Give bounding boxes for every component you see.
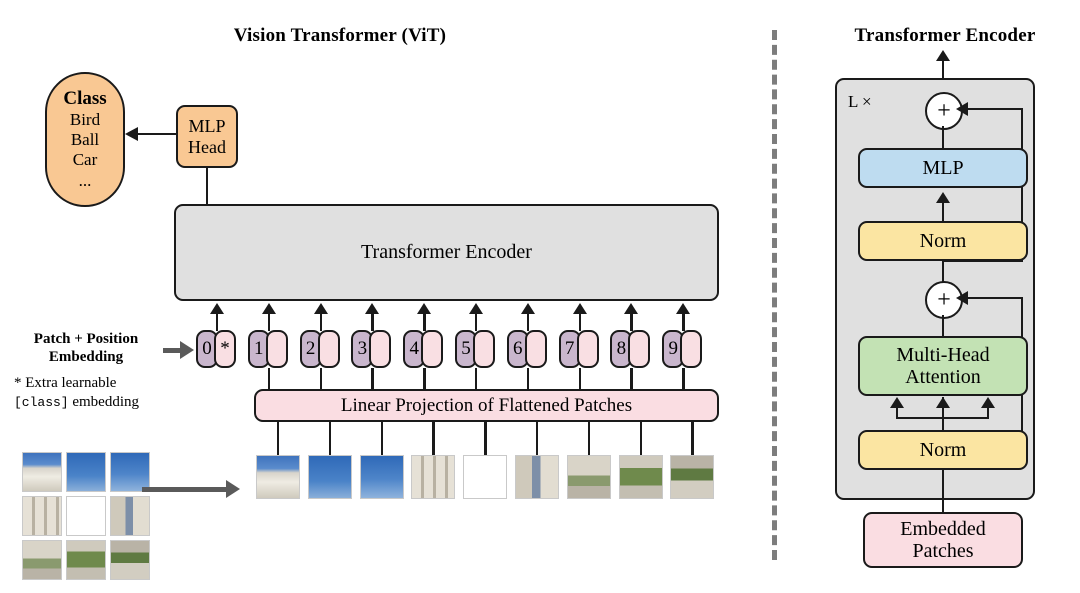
token-patch-half [525, 330, 547, 368]
token-to-encoder-wire [527, 314, 529, 331]
residual-add-top-symbol: + [937, 99, 951, 123]
projection-to-token-wire [682, 368, 684, 390]
source-patch [110, 540, 150, 580]
embedding-label-line2: Embedding [8, 349, 164, 367]
mlp-to-class-arrow-line [137, 133, 176, 135]
token-to-encoder-wire [371, 314, 373, 331]
token-to-encoder-arrow-head [417, 303, 431, 314]
token-patch-half [473, 330, 495, 368]
class-pill: Class Bird Ball Car ... [45, 72, 125, 207]
token-to-encoder-wire [682, 314, 684, 331]
embedded-patches-line1: Embedded [900, 518, 986, 540]
projection-to-token-wire [423, 368, 425, 390]
left-panel-title: Vision Transformer (ViT) [180, 25, 500, 47]
linear-projection-box: Linear Projection of Flattened Patches [254, 389, 719, 422]
class-pill-item: ... [47, 170, 123, 192]
mlp-block: MLP [858, 148, 1028, 188]
extra-learnable-footnote: * Extra learnable [class] embedding [14, 374, 194, 412]
residual-add-top-arrow-head [956, 102, 968, 116]
source-patch [22, 540, 62, 580]
patch-to-projection-wire [277, 422, 279, 455]
flattened-patch [619, 455, 663, 499]
patch-to-projection-wire [381, 422, 383, 455]
patch-position-token[interactable]: 0* [196, 330, 236, 368]
embedding-label-line1: Patch + Position [8, 331, 164, 349]
qkv-arrow-k [936, 397, 950, 408]
source-patch [22, 452, 62, 492]
projection-to-token-wire [579, 368, 581, 390]
token-patch-half [421, 330, 443, 368]
class-pill-item: Ball [47, 130, 123, 150]
residual-add-bottom-arrow-head [956, 291, 968, 305]
linear-projection-label: Linear Projection of Flattened Patches [341, 395, 632, 416]
repeat-count-label: L × [848, 92, 872, 112]
flattened-patch [360, 455, 404, 499]
token-to-encoder-wire [475, 314, 477, 331]
patch-to-projection-wire [432, 422, 434, 455]
norm-top-block: Norm [858, 221, 1028, 261]
token-to-encoder-arrow-head [624, 303, 638, 314]
class-pill-item: Bird [47, 110, 123, 130]
footnote-line2-tail: embedding [69, 394, 139, 410]
footnote-line2: [class] embedding [14, 393, 194, 412]
token-patch-half [369, 330, 391, 368]
source-patch [110, 452, 150, 492]
flattened-patch [463, 455, 507, 499]
flattened-patch [515, 455, 559, 499]
token-patch-half: * [214, 330, 236, 368]
embedded-patches-line2: Patches [900, 540, 986, 562]
mlp-head-line2: Head [188, 137, 226, 157]
attention-to-add-wire [942, 315, 944, 336]
projection-to-token-wire [268, 368, 270, 390]
qkv-arrow-v [981, 397, 995, 408]
token-to-encoder-wire [630, 314, 632, 331]
source-patch [22, 496, 62, 536]
patch-position-token[interactable]: 5 [455, 330, 495, 368]
patch-position-token[interactable]: 8 [610, 330, 650, 368]
patch-position-token[interactable]: 7 [559, 330, 599, 368]
projection-to-token-wire [630, 368, 632, 390]
patch-to-projection-wire [536, 422, 538, 455]
token-to-encoder-wire [423, 314, 425, 331]
flattened-patch [567, 455, 611, 499]
source-patch [66, 452, 106, 492]
attention-label-line2: Attention [896, 366, 989, 388]
patch-position-token[interactable]: 3 [351, 330, 391, 368]
patch-to-projection-wire [640, 422, 642, 455]
mlp-head-line1: MLP [188, 116, 226, 136]
residual-wire-top-horizontal-in [968, 108, 1023, 110]
embedded-patches-block: Embedded Patches [863, 512, 1023, 568]
projection-to-token-wire [371, 368, 373, 390]
mlp-block-label: MLP [922, 157, 963, 179]
class-pill-item: Car [47, 150, 123, 170]
token-to-encoder-arrow-head [210, 303, 224, 314]
token-to-encoder-arrow-head [469, 303, 483, 314]
patch-position-token[interactable]: 1 [248, 330, 288, 368]
patch-position-token[interactable]: 4 [403, 330, 443, 368]
token-to-encoder-arrow-head [676, 303, 690, 314]
projection-to-token-wire [527, 368, 529, 390]
flattened-patch [670, 455, 714, 499]
norm-top-to-mlp-arrow-head [936, 192, 950, 203]
token-patch-half [680, 330, 702, 368]
flattened-patch [308, 455, 352, 499]
footnote-line1: * Extra learnable [14, 374, 194, 393]
token-to-encoder-arrow-head [365, 303, 379, 314]
token-to-encoder-wire [268, 314, 270, 331]
norm-bottom-block: Norm [858, 430, 1028, 470]
mlp-to-add-wire [942, 126, 944, 148]
class-token-mono: [class] [14, 395, 69, 410]
encoder-output-arrow-head [936, 50, 950, 61]
flattened-patch [411, 455, 455, 499]
flattened-patch [256, 455, 300, 499]
patch-position-embedding-label: Patch + Position Embedding [8, 331, 164, 366]
patch-position-token[interactable]: 2 [300, 330, 340, 368]
source-patch [110, 496, 150, 536]
token-to-encoder-arrow-head [262, 303, 276, 314]
patch-position-token[interactable]: 6 [507, 330, 547, 368]
residual-add-bottom-symbol: + [937, 288, 951, 312]
token-to-encoder-wire [579, 314, 581, 331]
projection-to-token-wire [320, 368, 322, 390]
token-to-encoder-arrow-head [314, 303, 328, 314]
mlp-head-to-encoder-wire [206, 168, 208, 205]
attention-label-line1: Multi-Head [896, 344, 989, 366]
token-to-encoder-wire [216, 314, 218, 331]
token-to-encoder-arrow-head [521, 303, 535, 314]
source-patch [66, 540, 106, 580]
projection-to-token-wire [475, 368, 477, 390]
embedded-patches-to-norm-wire [942, 469, 944, 514]
token-patch-half [628, 330, 650, 368]
residual-wire-bottom-horizontal-in [968, 297, 1023, 299]
source-patch [66, 496, 106, 536]
multi-head-attention-block: Multi-Head Attention [858, 336, 1028, 396]
class-pill-heading: Class [47, 88, 123, 110]
mlp-head-box: MLP Head [176, 105, 238, 168]
patch-to-projection-wire [329, 422, 331, 455]
patch-to-projection-wire [691, 422, 693, 455]
transformer-encoder-box: Transformer Encoder [174, 204, 719, 301]
grid-to-patches-arrow-head [226, 480, 240, 498]
panel-divider [772, 30, 777, 560]
qkv-arrow-q [890, 397, 904, 408]
patch-to-projection-wire [484, 422, 486, 455]
token-patch-half [266, 330, 288, 368]
token-to-encoder-wire [320, 314, 322, 331]
right-panel-title: Transformer Encoder [820, 25, 1070, 47]
token-patch-half [577, 330, 599, 368]
patch-to-projection-wire [588, 422, 590, 455]
token-patch-half [318, 330, 340, 368]
transformer-encoder-label: Transformer Encoder [361, 241, 532, 263]
embedding-label-arrow-head [180, 341, 194, 359]
patch-position-token[interactable]: 9 [662, 330, 702, 368]
mlp-to-class-arrow-head [125, 127, 138, 141]
embedding-label-arrow-line [163, 348, 181, 353]
token-to-encoder-arrow-head [573, 303, 587, 314]
norm-bottom-block-label: Norm [920, 439, 967, 461]
grid-to-patches-arrow-line [142, 487, 227, 492]
norm-top-block-label: Norm [920, 230, 967, 252]
